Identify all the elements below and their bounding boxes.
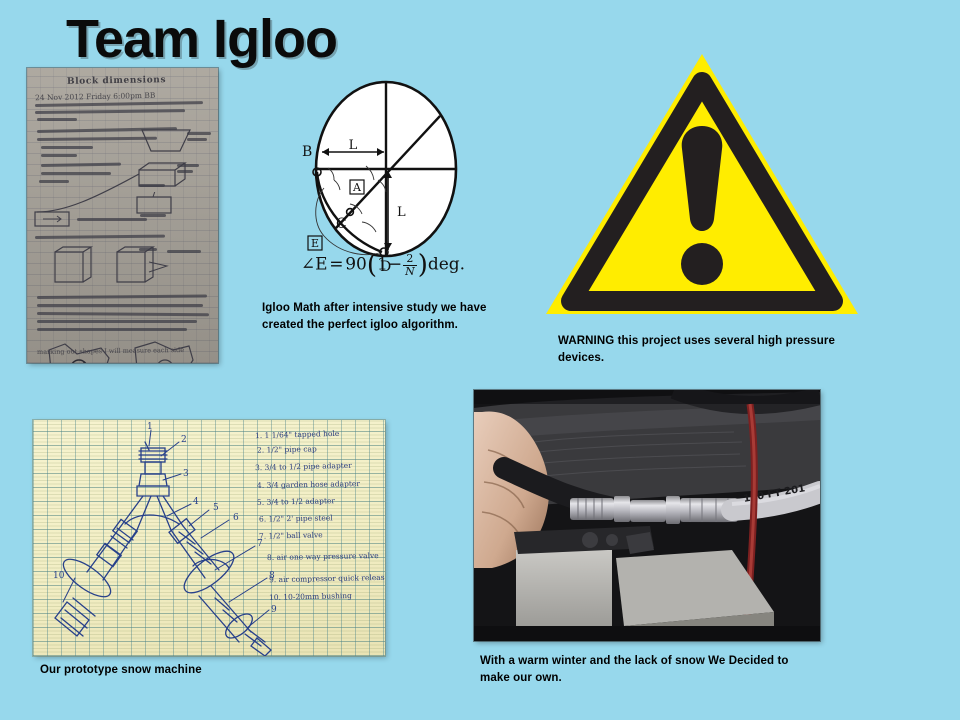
callout-5: 5 (213, 503, 219, 513)
page-title: Team Igloo (66, 8, 337, 70)
formula-prefix: ∠E = 90 (301, 255, 367, 275)
label-point-a: A (352, 181, 362, 194)
handwriting-stroke (177, 164, 199, 167)
label-point-b: B (302, 144, 312, 160)
label-point-c: C (336, 216, 347, 232)
formula-numerator: 2 (403, 253, 417, 266)
handwriting-stroke (37, 312, 209, 316)
handwriting-stroke (77, 218, 147, 221)
formula-one: 1− (377, 255, 402, 275)
snow-machine-drawing: 1 2 3 4 5 6 7 8 9 10 (33, 420, 385, 656)
block-comparison-sketch (43, 340, 203, 363)
handwriting-stroke (187, 132, 211, 135)
warning-triangle-icon (542, 48, 862, 320)
left-box-sketch (33, 208, 75, 230)
label-l-horizontal: L (349, 138, 358, 153)
formula-denominator: N (403, 266, 417, 278)
callout-9: 9 (271, 605, 277, 615)
parts-list-item: 4. 3/4 garden hose adapter (257, 479, 360, 490)
handwriting-stroke (139, 248, 157, 251)
handwriting-stroke (187, 138, 207, 141)
igloo-math-caption: Igloo Math after intensive study we have… (262, 300, 512, 333)
formula-fraction: 2N (403, 253, 417, 277)
handwriting-stroke (177, 170, 193, 173)
parts-list-item: 2. 1/2" pipe cap (257, 444, 317, 454)
hose-photo-caption: With a warm winter and the lack of snow … (480, 653, 820, 686)
notebook-page-content: Block dimensions 24 Nov 2012 Friday 6:00… (27, 68, 218, 363)
callout-3: 3 (183, 469, 189, 479)
parts-list-item: 6. 1/2" 2' pipe steel (259, 513, 333, 523)
handwriting-stroke (35, 235, 165, 239)
parts-list-item: 5. 3/4 to 1/2 adapter (257, 496, 335, 507)
handwriting-stroke (35, 101, 203, 107)
handwriting-stroke (35, 109, 185, 114)
callout-1: 1 (147, 422, 153, 432)
callout-2: 2 (181, 435, 187, 445)
hose-photo-content: 140 FT 201 (474, 390, 820, 641)
presentation-slide: Team Igloo Block dimensions 24 Nov 2012 … (0, 0, 960, 720)
prototype-sketch-image: 1 2 3 4 5 6 7 8 9 10 1. 1 1/64" tapped h… (33, 420, 385, 656)
handwriting-stroke (140, 214, 166, 217)
handwriting-stroke (37, 328, 187, 331)
callout-6: 6 (233, 513, 239, 523)
igloo-angle-formula: ∠E = 90(1−2N)deg. (258, 250, 508, 280)
notebook-date-line: 24 Nov 2012 Friday 6:00pm BB (35, 91, 156, 103)
handwriting-stroke (37, 304, 203, 307)
prototype-caption: Our prototype snow machine (40, 662, 370, 679)
notebook-page-image: Block dimensions 24 Nov 2012 Friday 6:00… (27, 68, 218, 363)
formula-close-paren: ) (418, 250, 428, 280)
formula-open-paren: ( (367, 250, 377, 280)
label-point-e: E (311, 237, 319, 250)
label-l-vertical: L (397, 205, 406, 220)
handwriting-stroke (37, 118, 77, 121)
callout-4: 4 (193, 497, 199, 507)
handwriting-stroke (37, 320, 197, 323)
handwriting-stroke (167, 250, 201, 253)
warning-caption: WARNING this project uses several high p… (558, 333, 858, 366)
callout-10: 10 (53, 571, 65, 581)
handwriting-stroke (37, 295, 207, 299)
handwriting-stroke (41, 163, 121, 167)
formula-suffix: deg. (428, 255, 465, 275)
parts-list-item: 7. 1/2" ball valve (259, 530, 323, 540)
handwriting-stroke (41, 146, 93, 149)
notebook-heading: Block dimensions (67, 75, 166, 87)
handwriting-stroke (41, 154, 77, 157)
hose-fitting-photo: 140 FT 201 (474, 390, 820, 641)
